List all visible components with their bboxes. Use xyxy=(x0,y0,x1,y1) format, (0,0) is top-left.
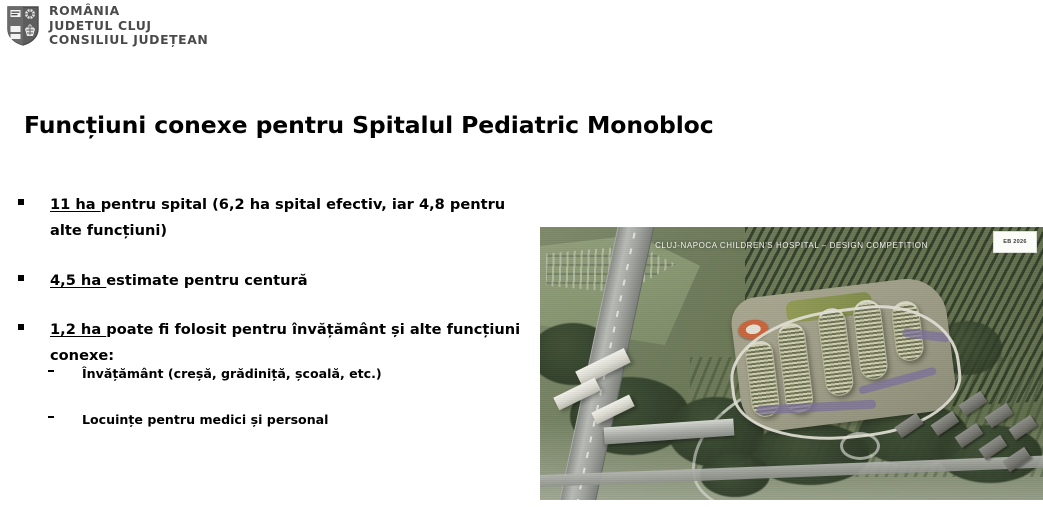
logo-line-county: JUDETUL CLUJ xyxy=(49,19,208,34)
render-canvas xyxy=(540,227,1043,500)
logo-line-country: ROMÂNIA xyxy=(49,4,208,19)
render-badge: EB 2026 xyxy=(993,231,1037,253)
bullet-rest: poate fi folosit pentru învățământ și al… xyxy=(50,321,520,364)
bullet-item: 1,2 ha poate fi folosit pentru învățămân… xyxy=(18,317,538,369)
bullet-list: 11 ha pentru spital (6,2 ha spital efect… xyxy=(18,192,538,393)
sub-bullet-text: Locuințe pentru medici și personal xyxy=(82,411,329,429)
bullet-text: 1,2 ha poate fi folosit pentru învățămân… xyxy=(50,317,538,369)
bullet-emphasis: 11 ha xyxy=(50,196,101,213)
square-bullet-icon xyxy=(18,324,26,330)
bullet-emphasis: 4,5 ha xyxy=(50,272,106,289)
bullet-rest: estimate pentru centură xyxy=(106,272,307,289)
bullet-item: 11 ha pentru spital (6,2 ha spital efect… xyxy=(18,192,538,244)
county-council-logo: ROMÂNIA JUDETUL CLUJ CONSILIUL JUDEȚEAN xyxy=(6,4,208,48)
square-bullet-icon xyxy=(18,275,26,281)
bullet-emphasis: 1,2 ha xyxy=(50,321,106,338)
square-bullet-icon xyxy=(18,199,26,205)
cluj-county-crest-icon xyxy=(6,5,40,47)
bullet-item: 4,5 ha estimate pentru centură xyxy=(18,268,538,294)
sub-bullet-item: Locuințe pentru medici și personal xyxy=(48,411,518,429)
hospital-complex xyxy=(729,274,959,434)
logo-line-institution: CONSILIUL JUDEȚEAN xyxy=(49,33,208,48)
logo-text-block: ROMÂNIA JUDETUL CLUJ CONSILIUL JUDEȚEAN xyxy=(49,4,208,48)
sub-bullet-list: Învățământ (creșă, grădiniță, școală, et… xyxy=(48,365,518,456)
sub-bullet-text: Învățământ (creșă, grădiniță, școală, et… xyxy=(82,365,382,383)
bullet-rest: pentru spital (6,2 ha spital efectiv, ia… xyxy=(50,196,505,239)
dash-bullet-icon xyxy=(48,416,56,418)
bullet-text: 11 ha pentru spital (6,2 ha spital efect… xyxy=(50,192,538,244)
slide-title: Funcțiuni conexe pentru Spitalul Pediatr… xyxy=(24,111,714,139)
dash-bullet-icon xyxy=(48,370,56,372)
sub-bullet-item: Învățământ (creșă, grădiniță, școală, et… xyxy=(48,365,518,383)
bullet-text: 4,5 ha estimate pentru centură xyxy=(50,268,308,294)
hospital-aerial-render: CLUJ-NAPOCA CHILDREN'S HOSPITAL – DESIGN… xyxy=(540,227,1043,500)
